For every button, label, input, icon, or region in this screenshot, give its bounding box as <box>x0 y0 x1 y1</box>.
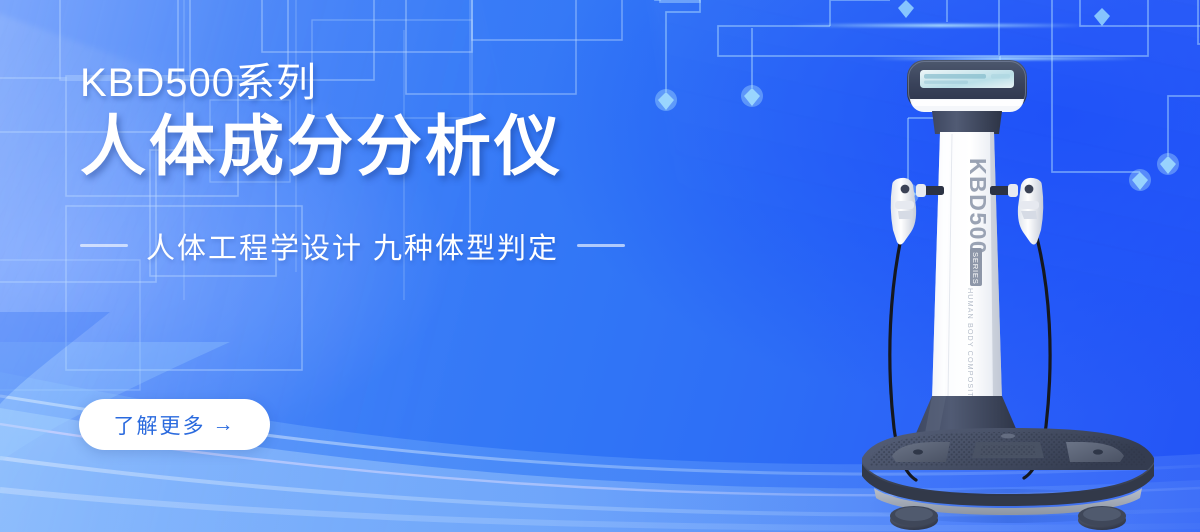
copy-block: KBD500系列 人体成分分析仪 人体工程学设计 九种体型判定 <box>80 62 700 267</box>
device-series-badge: SERIES <box>970 248 982 286</box>
body-composition-analyzer-device: KBD500 SERIES HUMAN BODY COMPOSITION ANA… <box>840 38 1170 532</box>
kicker-text: KBD500系列 <box>80 62 700 104</box>
svg-text:SERIES: SERIES <box>971 252 980 285</box>
learn-more-label: 了解更多 <box>114 410 206 440</box>
subline-text: 人体工程学设计 九种体型判定 <box>146 225 559 267</box>
promo-banner: KBD500系列 人体成分分析仪 人体工程学设计 九种体型判定 了解更多 → <box>0 0 1200 532</box>
rule-right-icon <box>577 244 625 247</box>
lcd-screen <box>920 70 1014 88</box>
rule-left-icon <box>80 244 128 247</box>
hand-electrode-right <box>990 178 1043 245</box>
device-display-head <box>907 60 1027 134</box>
learn-more-button[interactable]: 了解更多 → <box>79 399 270 450</box>
foot-electrode-platform <box>862 396 1154 530</box>
hand-electrode-left <box>891 178 944 245</box>
device-neck <box>932 111 1002 134</box>
subline-row: 人体工程学设计 九种体型判定 <box>80 225 700 267</box>
arrow-right-icon: → <box>213 414 236 435</box>
device-brand-text: KBD500 <box>965 158 991 255</box>
light-streak-upper <box>790 24 1090 27</box>
headline-text: 人体成分分析仪 <box>80 110 700 183</box>
